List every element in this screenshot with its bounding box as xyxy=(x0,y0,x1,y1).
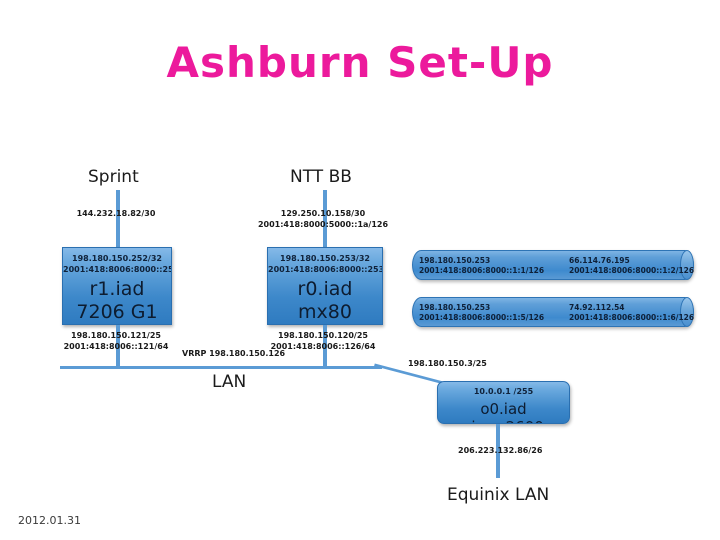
router-o0-ip: 10.0.0.1 /255 xyxy=(438,386,569,397)
router-r0-loopback-v6: 2001:418:8006:8000::253/128 xyxy=(268,264,382,275)
router-node-r1[interactable]: 198.180.150.252/32 2001:418:8006:8000::2… xyxy=(62,247,172,325)
router-r1-name: r1.iad xyxy=(63,278,171,301)
peering-2-remote-v6: 2001:418:8006:8000::1:6/126 xyxy=(569,313,694,323)
slide-canvas: Ashburn Set-Up Sprint NTT BB 144.232.18.… xyxy=(0,0,720,540)
link-label-ntt-v4: 129.250.10.158/30 xyxy=(248,208,398,219)
peering-1-local-v4: 198.180.150.253 xyxy=(419,256,490,266)
page-title: Ashburn Set-Up xyxy=(0,38,720,87)
provider-label-equinix: Equinix LAN xyxy=(447,485,549,505)
peering-2-local-v6: 2001:418:8006:8000::1:5/126 xyxy=(419,313,544,323)
peering-1-remote-v4: 66.114.76.195 xyxy=(569,256,630,266)
router-r0-loopback-v4: 198.180.150.253/32 xyxy=(268,253,382,264)
router-o0-name: o0.iad xyxy=(438,400,569,418)
footer-date: 2012.01.31 xyxy=(18,514,81,527)
link-label-o0-uplink-v4: 198.180.150.3/25 xyxy=(408,358,487,369)
provider-label-sprint: Sprint xyxy=(88,167,139,187)
lan-label: LAN xyxy=(212,372,246,392)
peering-1-remote-v6: 2001:418:8006:8000::1:2/126 xyxy=(569,266,694,276)
link-label-o0-downlink-v4: 206.223.132.86/26 xyxy=(458,445,542,456)
peering-1-local-v6: 2001:418:8006:8000::1:1/126 xyxy=(419,266,544,276)
link-label-r1-lan-v4: 198.180.150.121/25 xyxy=(40,330,192,341)
router-r0-model: mx80 xyxy=(268,301,382,324)
vrrp-label: VRRP 198.180.150.126 xyxy=(182,348,285,359)
router-r1-loopback-v6: 2001:418:8006:8000::252/128 xyxy=(63,264,171,275)
link-label-ntt-v6: 2001:418:8000:5000::1a/126 xyxy=(248,219,398,230)
peering-2-remote-v4: 74.92.112.54 xyxy=(569,303,625,313)
router-r0-name: r0.iad xyxy=(268,278,382,301)
provider-label-ntt: NTT BB xyxy=(290,167,352,187)
lan-bus-line xyxy=(60,366,382,369)
link-label-r0-lan-v4: 198.180.150.120/25 xyxy=(248,330,398,341)
peering-2-local-v4: 198.180.150.253 xyxy=(419,303,490,313)
link-label-r1-lan-v6: 2001:418:8006::121/64 xyxy=(40,341,192,352)
router-node-r0[interactable]: 198.180.150.253/32 2001:418:8006:8000::2… xyxy=(267,247,383,325)
router-r1-model: 7206 G1 xyxy=(63,301,171,324)
link-label-sprint-v4: 144.232.18.82/30 xyxy=(40,208,192,219)
router-node-o0[interactable]: 10.0.0.1 /255 o0.iad cisco 2600 xyxy=(437,381,570,424)
router-r1-loopback-v4: 198.180.150.252/32 xyxy=(63,253,171,264)
router-o0-model: cisco 2600 xyxy=(438,418,569,424)
